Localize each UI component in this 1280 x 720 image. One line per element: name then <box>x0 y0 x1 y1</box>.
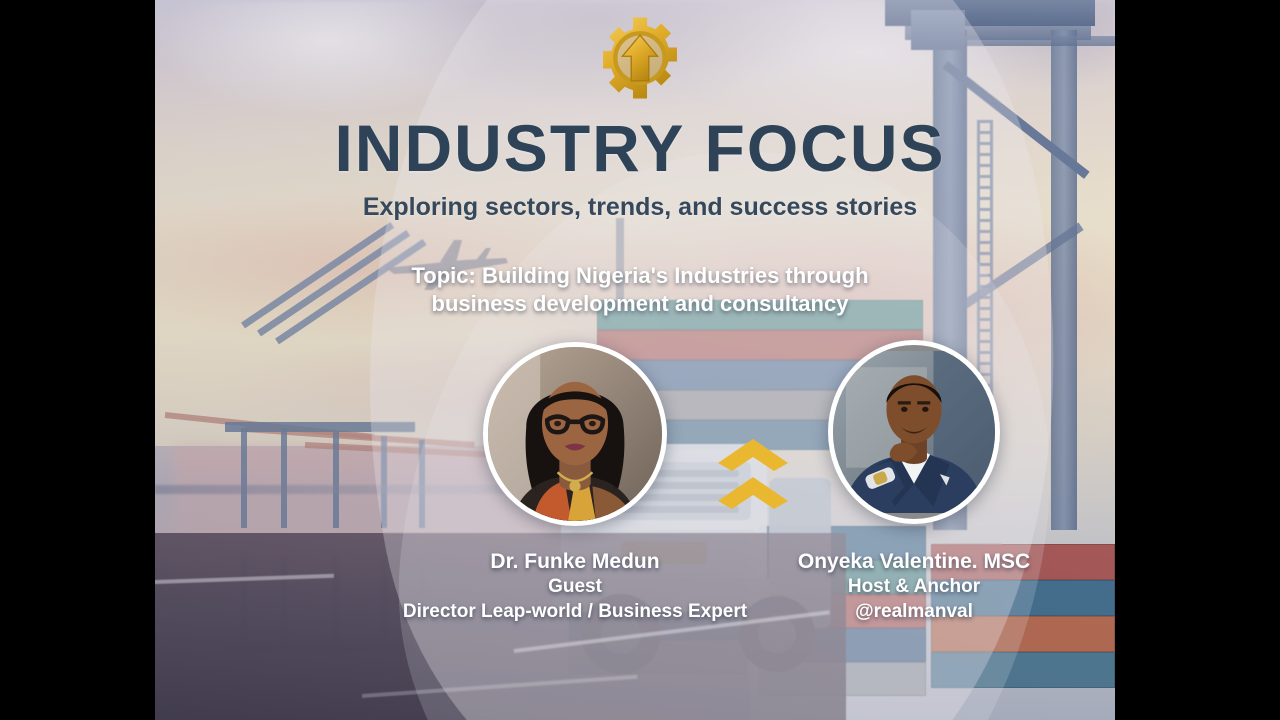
topic-line-1: Topic: Building Nigeria's Industries thr… <box>380 262 900 290</box>
guest-role: Guest <box>370 575 780 600</box>
guest-name: Dr. Funke Medun <box>370 548 780 575</box>
host-caption: Onyeka Valentine. MSC Host & Anchor @rea… <box>786 548 1042 625</box>
letterbox-bar-left <box>0 0 155 720</box>
guest-org: Director Leap-world / Business Expert <box>370 600 780 625</box>
topic-block: Topic: Building Nigeria's Industries thr… <box>380 262 900 318</box>
video-frame: INDUSTRY FOCUS Exploring sectors, trends… <box>0 0 1280 720</box>
topic-line-2: business development and consultancy <box>380 290 900 318</box>
page-subtitle: Exploring sectors, trends, and success s… <box>0 193 1280 222</box>
host-portrait-avatar <box>833 345 995 519</box>
host-name: Onyeka Valentine. MSC <box>786 548 1042 575</box>
guest-portrait-avatar <box>488 347 662 521</box>
host-role: Host & Anchor <box>786 575 1042 600</box>
double-chevron-up-icon <box>716 437 790 513</box>
avatar[interactable] <box>483 342 667 526</box>
letterbox-bar-right <box>1115 0 1280 720</box>
gear-with-up-arrow-icon <box>596 14 684 102</box>
page-title: INDUSTRY FOCUS <box>0 110 1280 186</box>
avatar[interactable] <box>828 340 1000 524</box>
guest-caption: Dr. Funke Medun Guest Director Leap-worl… <box>370 548 780 625</box>
host-handle: @realmanval <box>786 600 1042 625</box>
